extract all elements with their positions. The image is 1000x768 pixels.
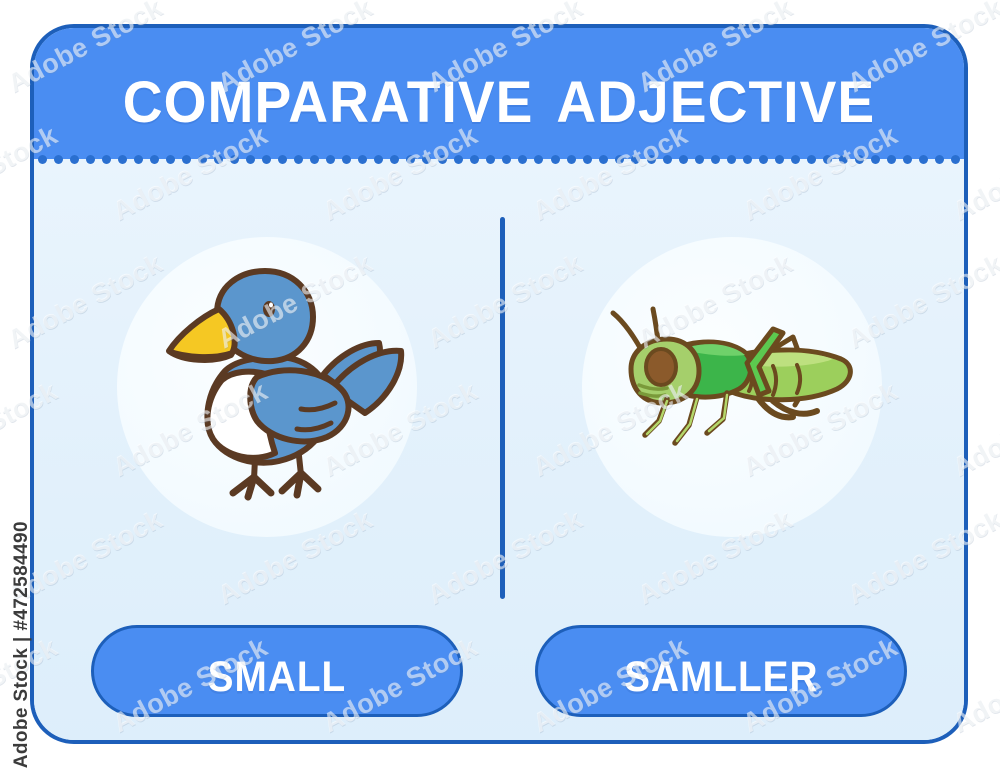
separator-dot xyxy=(38,155,47,164)
separator-dot xyxy=(166,155,175,164)
separator-dot xyxy=(214,155,223,164)
separator-dot xyxy=(839,155,848,164)
separator-dot xyxy=(454,155,463,164)
separator-dot xyxy=(534,155,543,164)
separator-dot xyxy=(390,155,399,164)
separator-dot xyxy=(326,155,335,164)
separator-dot xyxy=(647,155,656,164)
separator-dot xyxy=(919,155,928,164)
separator-dot xyxy=(631,155,640,164)
separator-dot xyxy=(342,155,351,164)
separator-dot xyxy=(903,155,912,164)
separator-dot xyxy=(230,155,239,164)
separator-dot xyxy=(438,155,447,164)
separator-dot xyxy=(871,155,880,164)
separator-dot xyxy=(54,155,63,164)
separator-dot xyxy=(615,155,624,164)
separator-dot xyxy=(358,155,367,164)
separator-dot xyxy=(791,155,800,164)
separator-dot xyxy=(182,155,191,164)
separator-dot xyxy=(711,155,720,164)
watermark-text: Adobe Stock xyxy=(423,760,588,768)
separator-dot xyxy=(374,155,383,164)
separator-dot xyxy=(310,155,319,164)
bird-eye xyxy=(263,301,275,317)
panel-divider xyxy=(500,217,505,599)
separator-dot xyxy=(807,155,816,164)
separator-dot xyxy=(759,155,768,164)
card-body: SMALL SAMLLER xyxy=(34,159,964,744)
separator-dot xyxy=(679,155,688,164)
separator-dot xyxy=(951,155,960,164)
separator-dot xyxy=(102,155,111,164)
separator-dot xyxy=(86,155,95,164)
separator-dot xyxy=(422,155,431,164)
separator-dot xyxy=(118,155,127,164)
word-label-smaller: SAMLLER xyxy=(624,641,818,701)
dotted-separator xyxy=(34,154,964,165)
separator-dot xyxy=(551,155,560,164)
separator-dot xyxy=(935,155,944,164)
separator-dot xyxy=(775,155,784,164)
separator-dot xyxy=(823,155,832,164)
page-title: Comparative Adjective xyxy=(123,52,876,135)
watermark-text: Adobe Stock xyxy=(3,760,168,768)
separator-dot xyxy=(599,155,608,164)
separator-dot xyxy=(583,155,592,164)
panel-right xyxy=(499,159,964,611)
separator-dot xyxy=(294,155,303,164)
word-buttons: SMALL SAMLLER xyxy=(34,611,964,744)
separator-dot xyxy=(855,155,864,164)
grasshopper-eye xyxy=(646,349,676,385)
separator-dot xyxy=(262,155,271,164)
watermark-text: Adobe Stock xyxy=(843,760,1000,768)
separator-dot xyxy=(695,155,704,164)
flashcard: Comparative Adjective xyxy=(30,24,968,744)
grasshopper-illustration xyxy=(597,293,867,478)
separator-dot xyxy=(246,155,255,164)
bird-illustration xyxy=(117,243,417,528)
separator-dot xyxy=(727,155,736,164)
separator-dot xyxy=(743,155,752,164)
watermark-text: Adobe Stock xyxy=(213,760,378,768)
word-label-small: SMALL xyxy=(208,641,347,701)
panel-left xyxy=(34,159,499,611)
separator-dot xyxy=(486,155,495,164)
word-button-smaller[interactable]: SAMLLER xyxy=(535,625,907,717)
illustration-panels xyxy=(34,159,964,611)
card-header: Comparative Adjective xyxy=(34,28,964,159)
word-button-small[interactable]: SMALL xyxy=(91,625,463,717)
separator-dot xyxy=(470,155,479,164)
separator-dot xyxy=(278,155,287,164)
separator-dot xyxy=(502,155,511,164)
separator-dot xyxy=(663,155,672,164)
separator-dot xyxy=(567,155,576,164)
separator-dot xyxy=(70,155,79,164)
separator-dot xyxy=(198,155,207,164)
separator-dot xyxy=(518,155,527,164)
separator-dot xyxy=(150,155,159,164)
separator-dot xyxy=(406,155,415,164)
watermark-text: Adobe Stock xyxy=(633,760,798,768)
separator-dot xyxy=(134,155,143,164)
separator-dot xyxy=(887,155,896,164)
